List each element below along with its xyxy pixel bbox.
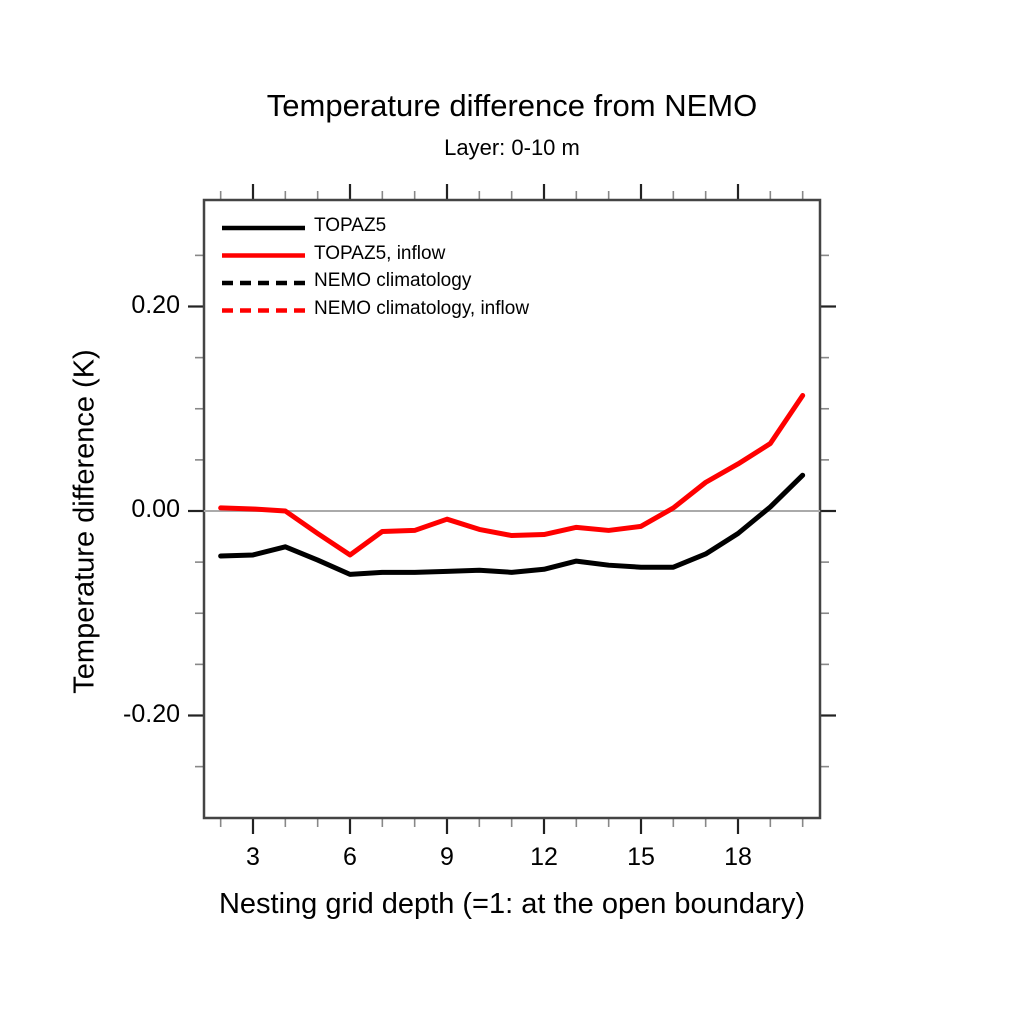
legend-entry-label: NEMO climatology, inflow — [314, 298, 529, 320]
x-tick-label: 12 — [494, 843, 594, 872]
y-tick-label: -0.20 — [30, 700, 180, 729]
x-tick-label: 9 — [397, 843, 497, 872]
x-tick-label: 3 — [203, 843, 303, 872]
series-line-1 — [221, 395, 803, 555]
figure-canvas: Temperature difference from NEMO Layer: … — [0, 0, 1024, 1024]
plot-frame — [204, 200, 820, 818]
x-tick-label: 6 — [300, 843, 400, 872]
x-tick-label: 15 — [591, 843, 691, 872]
legend-entry-label: TOPAZ5 — [314, 215, 386, 237]
y-tick-label: 0.20 — [30, 291, 180, 320]
data-series-group — [221, 395, 803, 574]
legend-entry-label: TOPAZ5, inflow — [314, 243, 445, 265]
legend-sample-lines — [222, 228, 305, 311]
legend-entry-label: NEMO climatology — [314, 270, 471, 292]
y-tick-label: 0.00 — [30, 495, 180, 524]
x-tick-label: 18 — [688, 843, 788, 872]
